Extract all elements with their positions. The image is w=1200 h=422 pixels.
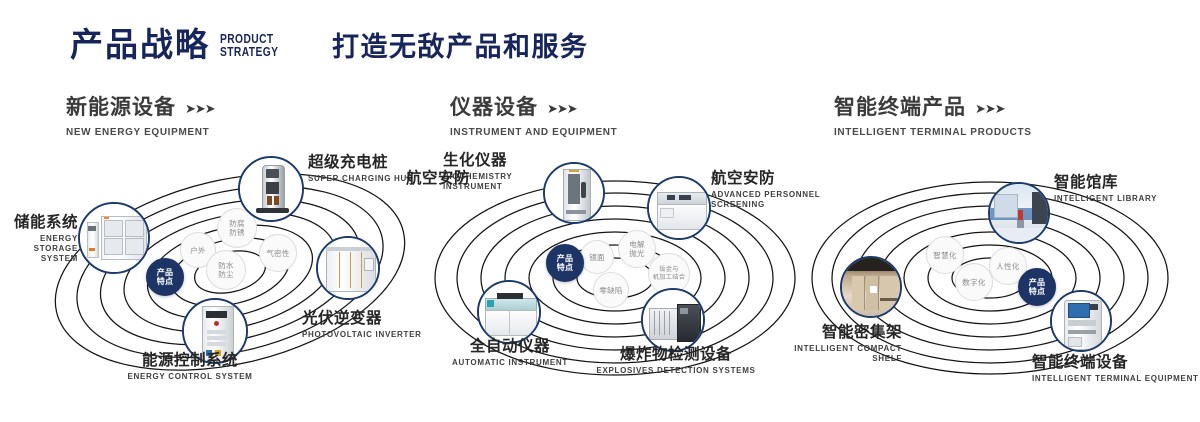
chevron-right-icon: ➤➤➤ [547,102,577,115]
feature-bubble: 气密性 [259,234,297,272]
node-personnel-screening[interactable] [647,176,711,240]
core-label-line1: 产品 [157,268,174,278]
node-charging-hub[interactable] [238,156,304,222]
label-energy-control: 能源控制系统 ENERGY CONTROL SYSTEM [70,352,310,382]
core-label-line2: 特点 [1029,287,1046,297]
section-subtitle-en: INSTRUMENT AND EQUIPMENT [450,126,617,138]
screening-machine-icon [649,178,709,238]
section-title-cn: 仪器设备 [450,96,538,120]
label-compact-shelf: 智能密集架 INTELLIGENT COMPACT SHELF [754,324,902,364]
feature-bubble: 数字化 [955,263,993,301]
label-automatic-instrument: 全自动仪器 AUTOMATIC INSTRUMENT [425,338,595,368]
section-subtitle-en: NEW ENERGY EQUIPMENT [66,126,209,138]
explosives-detector-icon [643,290,703,350]
page-title-en: PRODUCT STRATEGY [220,33,278,59]
section-title-intelligent-terminal: 智能终端产品 ➤➤➤ INTELLIGENT TERMINAL PRODUCTS [834,96,1042,138]
section-subtitle-en: INTELLIGENT TERMINAL PRODUCTS [834,126,1032,138]
label-intelligent-library: 智能馆库 INTELLIGENT LIBRARY [1054,174,1194,204]
product-strategy-infographic: 产品战略 PRODUCT STRATEGY 打造无敌产品和服务 新能源设备 ➤➤… [0,0,1200,422]
label-explosives-detection: 爆炸物检测设备 EXPLOSIVES DETECTION SYSTEMS [591,346,761,376]
core-node-product-features: 产品 特点 [146,258,184,296]
page-title-cn: 产品战略 [70,28,210,61]
compact-shelf-icon [842,258,900,316]
core-label-line1: 产品 [1029,278,1046,288]
page-subtitle: 打造无敌产品和服务 [332,34,589,61]
chevron-right-icon: ➤➤➤ [185,102,215,115]
core-label-line1: 产品 [557,254,574,264]
node-pv-inverter[interactable] [316,236,380,300]
feature-bubble: 智慧化 [926,236,964,274]
section-title-instrument: 仪器设备 ➤➤➤ INSTRUMENT AND EQUIPMENT [450,96,626,138]
diagram-intelligent-terminal: 智慧化 数字化 人性化 产品 特点 智能馆库 INTELLIGENT LIBRA… [800,150,1200,395]
feature-bubble: 防水 防尘 [206,250,246,290]
core-node-product-features: 产品 特点 [546,244,584,282]
label-terminal-equipment: 智能终端设备 INTELLIGENT TERMINAL EQUIPMENT [1032,354,1200,384]
label-energy-storage: 储能系统 ENERGY STORAGE SYSTEM [0,214,78,264]
page-header: 产品战略 PRODUCT STRATEGY [70,28,291,61]
chevron-right-icon: ➤➤➤ [975,102,1005,115]
automatic-instrument-icon [479,282,539,342]
core-node-product-features: 产品 特点 [1018,268,1056,306]
diagram-new-energy: 户外 防腐 防锈 防水 防尘 气密性 产品 特点 储能系统 ENERGY S [40,150,440,395]
node-explosives-detection[interactable] [641,288,705,352]
node-intelligent-library[interactable] [988,182,1050,244]
label-aviation-security: 航空安防 [406,170,516,188]
core-label-line2: 特点 [157,277,174,287]
section-title-cn: 智能终端产品 [834,96,966,120]
section-title-cn: 新能源设备 [66,96,176,120]
node-compact-shelf[interactable] [840,256,902,318]
node-energy-storage[interactable] [78,202,150,274]
section-title-new-energy: 新能源设备 ➤➤➤ NEW ENERGY EQUIPMENT [66,96,217,138]
feature-bubble: 零缺陷 [593,272,629,308]
inverter-cabinet-icon [318,238,378,298]
charging-pile-icon [240,158,302,220]
node-terminal-equipment[interactable] [1050,290,1112,352]
node-automatic-instrument[interactable] [477,280,541,344]
smart-library-icon [990,184,1048,242]
feature-bubble: 镜面 [580,240,614,274]
battery-cabinet-icon [80,204,148,272]
core-label-line2: 特点 [557,263,574,273]
self-service-terminal-icon [1052,292,1110,350]
